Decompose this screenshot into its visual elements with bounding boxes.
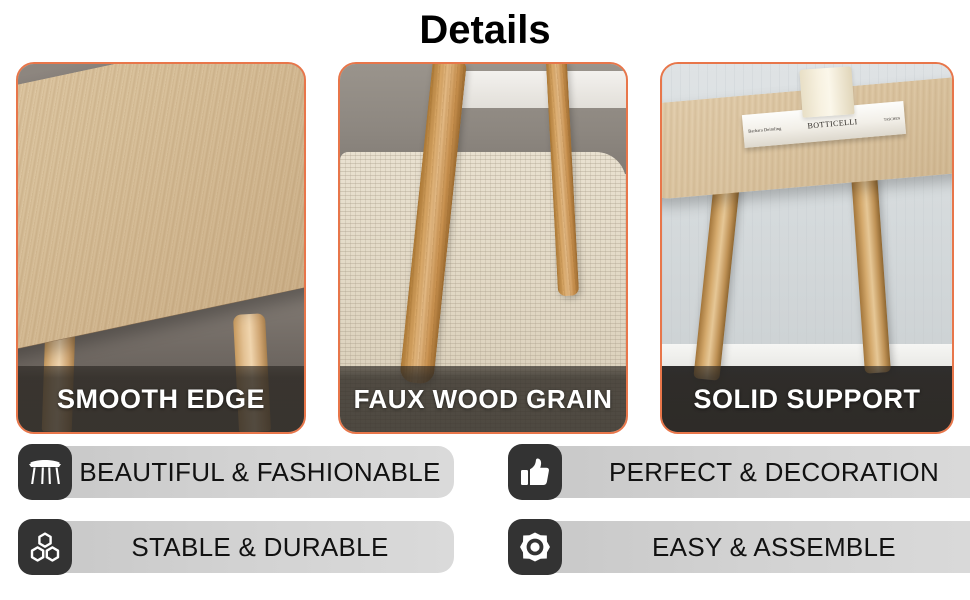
panel-caption-bar: SOLID SUPPORT	[662, 366, 952, 432]
table-icon	[18, 444, 72, 500]
page-title: Details	[0, 8, 970, 53]
feature-label: PERFECT & DECORATION	[552, 446, 970, 498]
feature-item-perfect-decoration[interactable]: PERFECT & DECORATION	[508, 444, 970, 500]
detail-panels: SMOOTH EDGE FAUX WOOD GRAIN	[0, 62, 970, 434]
panel-caption-bar: SMOOTH EDGE	[18, 366, 304, 432]
feature-row-2: STABLE & DURABLE EASY & ASSEMBLE	[0, 519, 970, 581]
feature-label: BEAUTIFUL & FASHIONABLE	[62, 446, 454, 498]
detail-panel-solid-support[interactable]: Barbara Deimling BOTTICELLI TASCHEN SOLI…	[660, 62, 954, 434]
feature-item-easy-assemble[interactable]: EASY & ASSEMBLE	[508, 519, 970, 575]
feature-label: EASY & ASSEMBLE	[552, 521, 970, 573]
feature-row-1: BEAUTIFUL & FASHIONABLE PERFECT & DECORA…	[0, 444, 970, 506]
detail-panel-faux-wood-grain[interactable]: FAUX WOOD GRAIN	[338, 62, 628, 434]
feature-item-beautiful-fashionable[interactable]: BEAUTIFUL & FASHIONABLE	[18, 444, 454, 500]
book-author: Barbara Deimling	[748, 126, 781, 134]
panel-caption-text: SOLID SUPPORT	[693, 384, 920, 415]
feature-label: STABLE & DURABLE	[62, 521, 454, 573]
panel-caption-text: FAUX WOOD GRAIN	[354, 384, 613, 415]
feature-list: BEAUTIFUL & FASHIONABLE PERFECT & DECORA…	[0, 444, 970, 594]
thumbs-up-icon	[508, 444, 562, 500]
detail-panel-smooth-edge[interactable]: SMOOTH EDGE	[16, 62, 306, 434]
candle-prop	[800, 66, 855, 117]
product-detail-page: Details SMOOTH EDGE	[0, 0, 970, 600]
book-title: BOTTICELLI	[807, 117, 858, 130]
panel-caption-text: SMOOTH EDGE	[57, 384, 265, 415]
gear-icon	[508, 519, 562, 575]
hexagon-cluster-icon	[18, 519, 72, 575]
book-publisher: TASCHEN	[884, 116, 901, 121]
panel-caption-bar: FAUX WOOD GRAIN	[340, 366, 626, 432]
feature-item-stable-durable[interactable]: STABLE & DURABLE	[18, 519, 454, 575]
